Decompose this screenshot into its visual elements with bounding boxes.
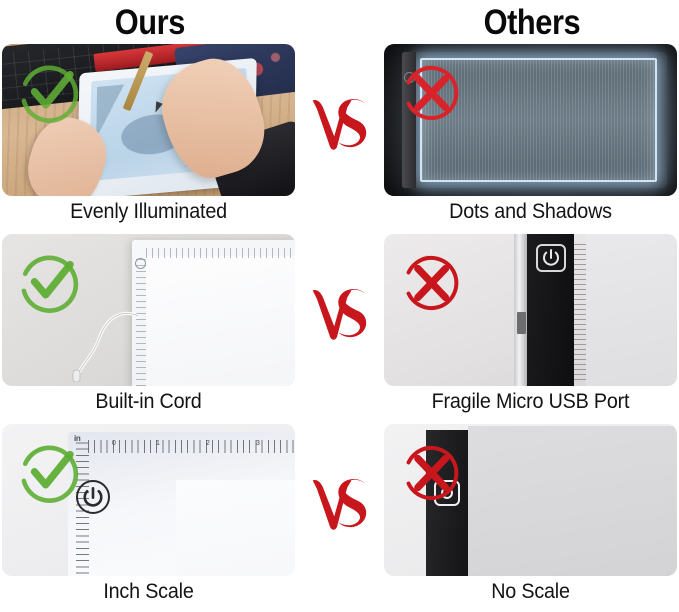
vs-brush-icon: [304, 466, 376, 538]
ours-image-inch-scale: 0 1 2 3 in: [2, 424, 295, 576]
light-pad-surface: [176, 480, 295, 576]
ruler-number-1: 1: [156, 440, 160, 447]
page-title-ours: Ours: [115, 5, 185, 40]
header-cell-others: Others: [384, 0, 679, 44]
power-cord: [54, 278, 140, 382]
caption-others-scale: No Scale: [393, 580, 668, 604]
scene-inch-scale-pad: 0 1 2 3 in: [2, 424, 295, 576]
scene-built-in-cord: [2, 234, 295, 386]
ruler-number-0: 0: [112, 440, 116, 447]
power-button-icon: [76, 480, 110, 514]
others-image-micro-usb: [384, 234, 677, 386]
light-pad-body: [468, 426, 677, 576]
ruler-top: 0 1 2 3: [88, 440, 295, 453]
ours-image-built-in-cord: [2, 234, 295, 386]
corner-marker-icon: [135, 258, 146, 269]
power-glyph-icon: [436, 482, 458, 504]
caption-ours-power: Built-in Cord: [11, 390, 286, 414]
header-row: Ours Others: [0, 0, 679, 44]
comparison-infographic: Ours Others: [0, 0, 679, 610]
ruler-top: [146, 248, 295, 258]
micro-usb-port: [517, 312, 526, 334]
caption-others-power: Fragile Micro USB Port: [393, 390, 668, 414]
caption-ours-scale: Inch Scale: [11, 580, 286, 604]
vs-divider-row-1: [300, 82, 380, 162]
others-image-no-scale: [384, 424, 677, 576]
power-glyph-icon: [78, 482, 108, 512]
vs-brush-icon: [304, 86, 376, 158]
ours-image-illumination: [2, 44, 295, 196]
header-cell-ours: Ours: [2, 0, 298, 44]
scene-micro-usb-port: [384, 234, 677, 386]
power-glyph-icon: [538, 246, 564, 270]
power-button-icon: [434, 480, 460, 506]
page-title-others: Others: [484, 5, 581, 40]
power-button-icon: [536, 244, 566, 272]
power-button-icon: [404, 72, 415, 83]
ruler-number-3: 3: [256, 440, 260, 447]
caption-ours-illumination: Evenly Illuminated: [11, 200, 286, 224]
vs-brush-icon: [304, 276, 376, 348]
others-image-illumination: [384, 44, 677, 196]
ruler-number-2: 2: [206, 440, 210, 447]
caption-others-illumination: Dots and Shadows: [393, 200, 668, 224]
comparison-row-power-connection: Built-in Cord Fragile Micro USB Port: [0, 232, 679, 422]
comparison-row-illumination: Evenly Illuminated Dots and Shadows: [0, 42, 679, 232]
light-pad-surface: [146, 256, 295, 386]
vs-divider-row-3: [300, 462, 380, 542]
scene-tracing-on-lightpad: [2, 44, 295, 196]
vs-divider-row-2: [300, 272, 380, 352]
ruler-strip: [574, 240, 586, 380]
light-pad-body: [132, 240, 295, 386]
light-pad-body: [586, 234, 677, 386]
ruler-unit-label: in: [74, 434, 81, 443]
scene-no-scale-pad: [384, 424, 677, 576]
ruler-ticks-horizontal: [88, 440, 295, 453]
scene-uneven-lightpad: [384, 44, 677, 196]
comparison-row-measurement-scale: 0 1 2 3 in: [0, 422, 679, 612]
light-pad-screen-glow: [420, 58, 657, 182]
pad-edge: [514, 234, 527, 386]
